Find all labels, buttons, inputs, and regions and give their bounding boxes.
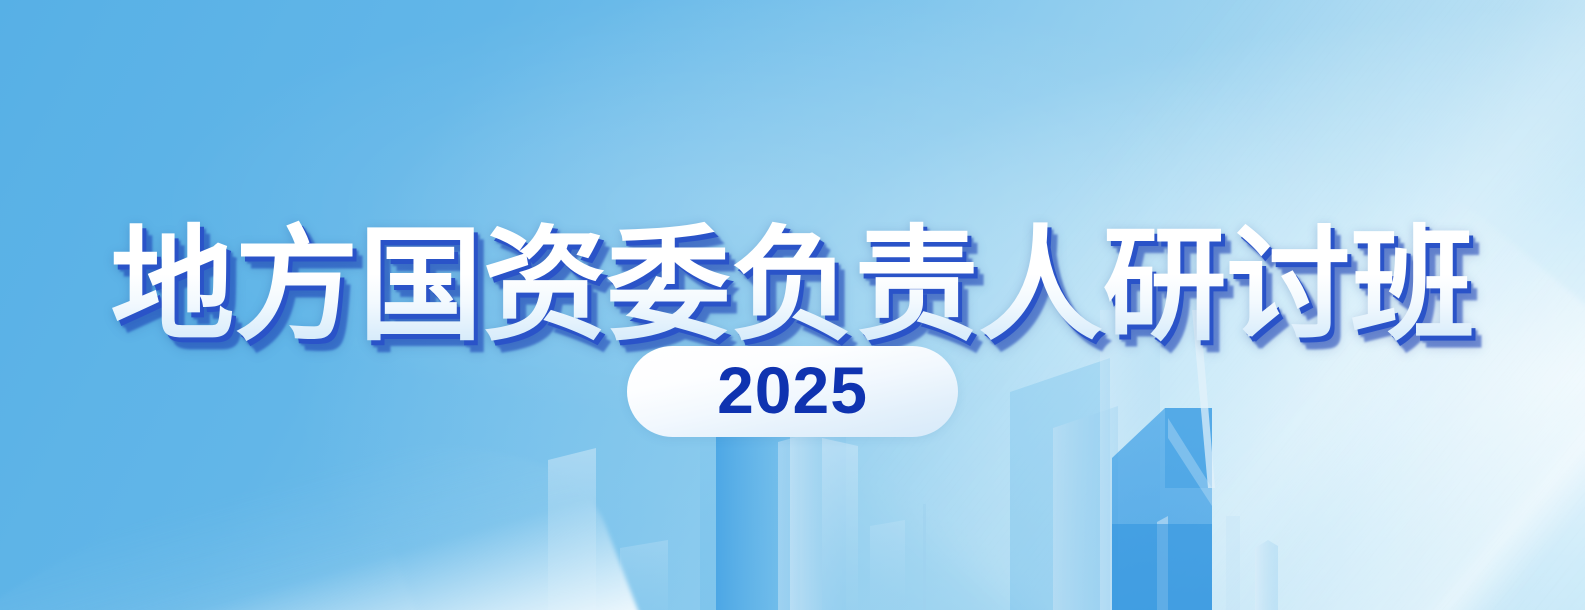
banner-title: 地方国资委负责人研讨班 — [110, 220, 1474, 354]
year-badge: 2025 — [627, 346, 958, 437]
diagonal-white-swoosh-under-icon — [0, 458, 512, 610]
year-badge-label: 2025 — [717, 357, 868, 423]
conference-banner: 地方国资委负责人研讨班 2025 — [0, 0, 1585, 610]
year-badge-container: 2025 — [0, 346, 1585, 437]
